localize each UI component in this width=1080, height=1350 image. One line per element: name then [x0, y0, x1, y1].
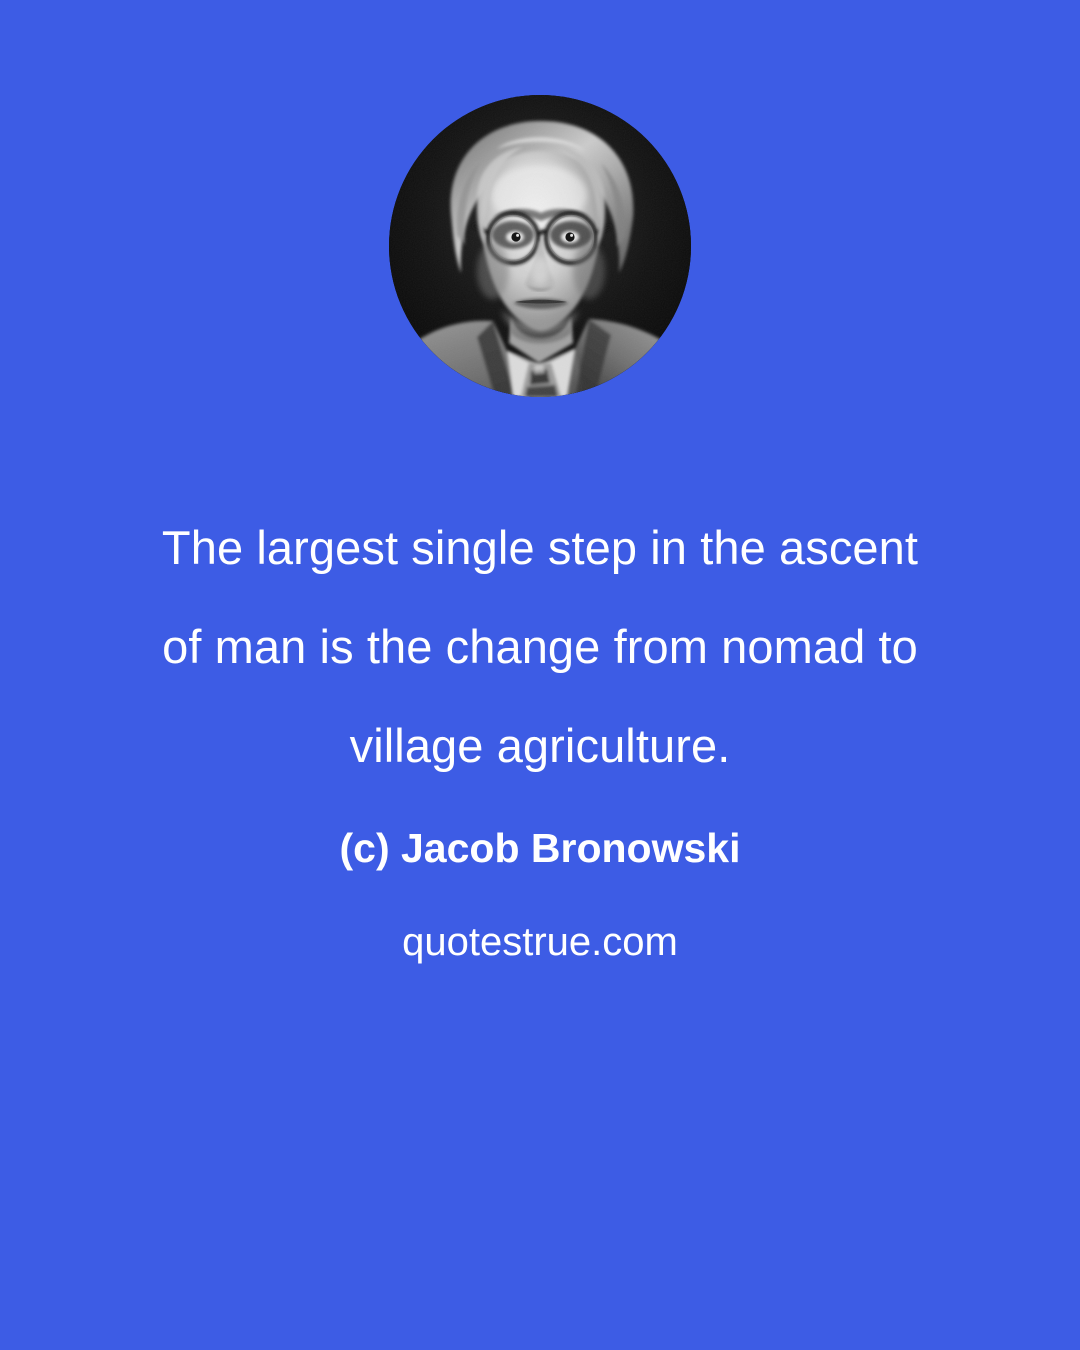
- quote-line-2: of man is the change from nomad to: [0, 597, 1080, 696]
- quote-text-block: The largest single step in the ascent of…: [0, 498, 1080, 979]
- quote-line-3: village agriculture.: [0, 696, 1080, 795]
- source-website-label: quotestrue.com: [0, 905, 1080, 979]
- quote-line-1: The largest single step in the ascent: [0, 498, 1080, 597]
- author-portrait-photo: [389, 95, 691, 397]
- quote-card: The largest single step in the ascent of…: [0, 0, 1080, 1350]
- author-attribution: (c) Jacob Bronowski: [0, 811, 1080, 885]
- author-portrait: [389, 95, 691, 397]
